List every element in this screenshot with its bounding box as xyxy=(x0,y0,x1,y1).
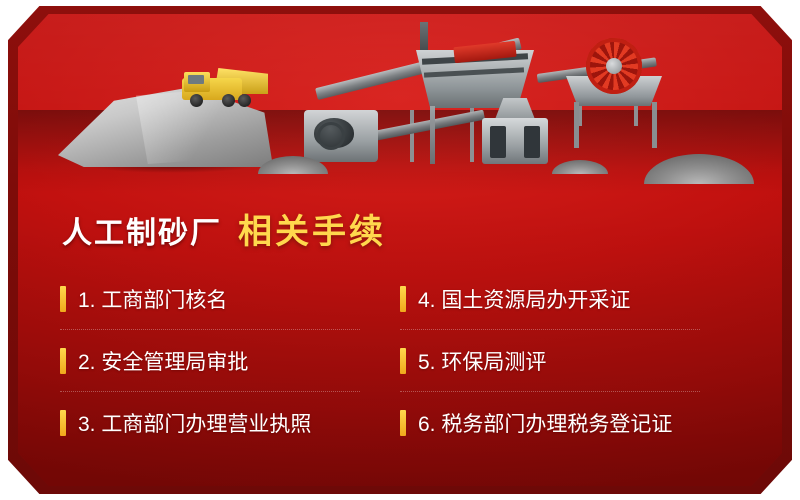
list-item-label: 6. 税务部门办理税务登记证 xyxy=(418,408,672,438)
title-accent: 相关手续 xyxy=(238,204,386,253)
bullet-bar-icon xyxy=(60,286,66,312)
list-item: 6. 税务部门办理税务登记证 xyxy=(400,392,750,454)
bullet-bar-icon xyxy=(60,348,66,374)
plant-illustration xyxy=(18,14,782,194)
conveyor-leg xyxy=(410,110,414,162)
list-item-label: 2. 安全管理局审批 xyxy=(78,346,248,376)
list-item-label: 3. 工商部门办理营业执照 xyxy=(78,408,311,438)
sand-maker-motor xyxy=(490,126,506,158)
screen-tower-leg xyxy=(430,106,435,164)
list-item: 5. 环保局测评 xyxy=(400,330,750,392)
dump-truck-wheel xyxy=(190,94,203,107)
list-item: 3. 工商部门办理营业执照 xyxy=(60,392,400,454)
jaw-crusher-flywheel xyxy=(317,122,345,150)
sand-washer-leg xyxy=(652,102,657,148)
bullet-bar-icon xyxy=(400,348,406,374)
sand-washer-leg xyxy=(574,102,579,148)
list-item: 2. 安全管理局审批 xyxy=(60,330,400,392)
poster: 人工制砂厂 相关手续 1. 工商部门核名 4. 国土资源局办开采证 2. 安全管… xyxy=(0,0,800,500)
procedure-list: 1. 工商部门核名 4. 国土资源局办开采证 2. 安全管理局审批 5. 环保局… xyxy=(60,268,750,454)
dump-truck-wheel xyxy=(222,94,235,107)
list-item-label: 1. 工商部门核名 xyxy=(78,284,227,314)
dump-truck-window xyxy=(188,75,204,84)
bullet-bar-icon xyxy=(60,410,66,436)
bullet-bar-icon xyxy=(400,410,406,436)
list-item-label: 5. 环保局测评 xyxy=(418,346,546,376)
sand-washer-hub xyxy=(606,58,622,74)
list-item: 1. 工商部门核名 xyxy=(60,268,400,330)
bullet-bar-icon xyxy=(400,286,406,312)
list-item: 4. 国土资源局办开采证 xyxy=(400,268,750,330)
list-item-label: 4. 国土资源局办开采证 xyxy=(418,284,630,314)
title-row: 人工制砂厂 相关手续 xyxy=(62,204,386,253)
dump-truck-wheel xyxy=(238,94,251,107)
sand-maker-motor xyxy=(524,126,540,158)
title-main: 人工制砂厂 xyxy=(62,208,222,252)
